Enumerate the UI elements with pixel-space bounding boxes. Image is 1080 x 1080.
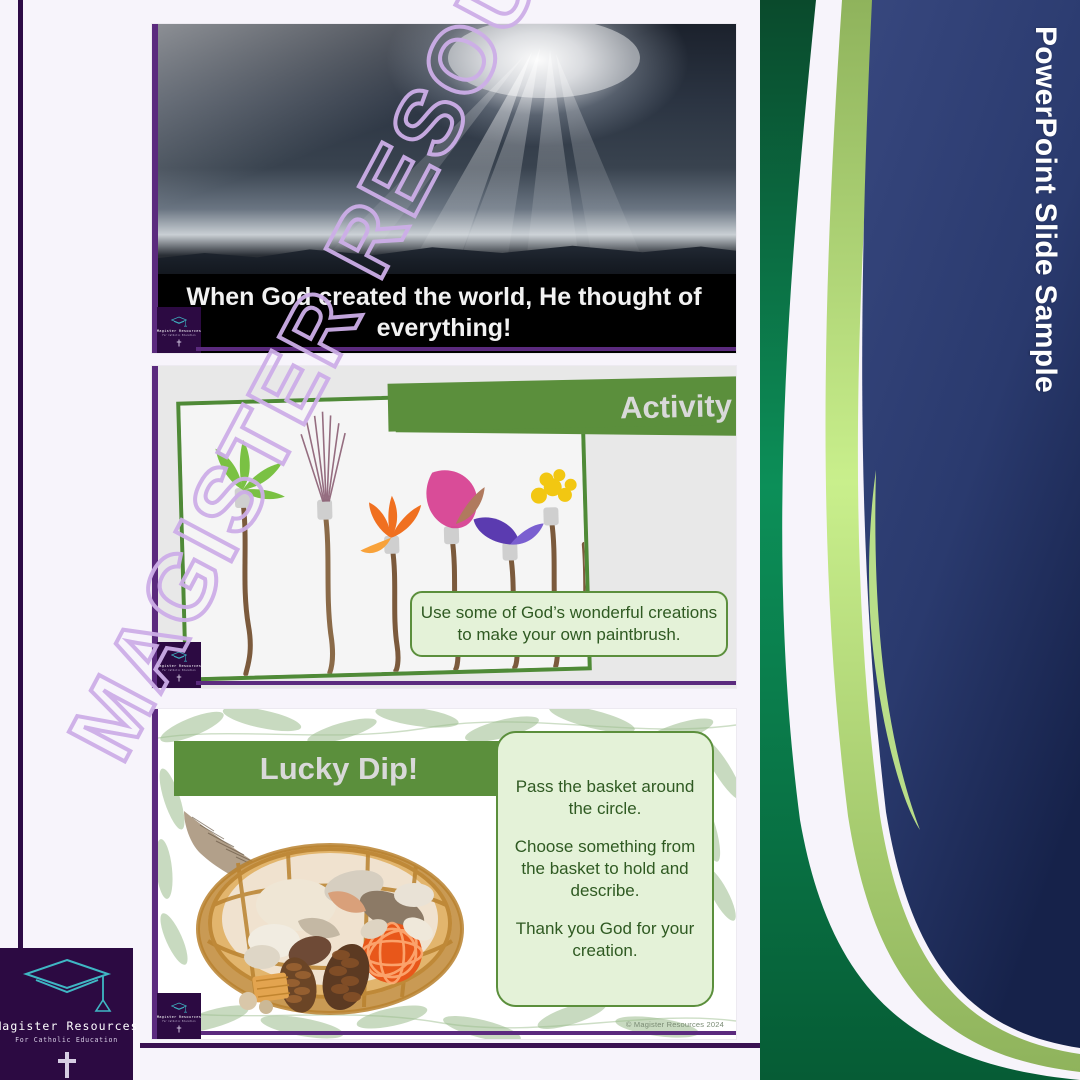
slide-thumbnail-1[interactable]: When God created the world, He thought o… [152, 24, 736, 353]
graduation-cap-icon [171, 316, 187, 327]
slide-left-edge [152, 709, 158, 1039]
slide-left-edge [152, 366, 158, 688]
badge-brand-tagline: For Catholic Education [162, 669, 195, 672]
slide-1-bottom-rule [196, 347, 736, 351]
copyright-notice: © Magister Resources 2024 [626, 1020, 724, 1029]
slide-1-caption: When God created the world, He thought o… [152, 282, 736, 343]
graduation-cap-icon [171, 1002, 187, 1013]
slide-3-title: Lucky Dip! [174, 741, 504, 796]
slide-3-bottom-rule [196, 1031, 736, 1035]
badge-brand-name: Magister Resources [157, 1015, 201, 1019]
basket-photo [178, 801, 478, 1019]
callout-paragraph-1: Pass the basket around the circle. [504, 776, 706, 820]
badge-brand-name: Magister Resources [157, 329, 201, 333]
sun-rays [152, 24, 736, 281]
rays-svg [152, 24, 736, 281]
brand-name: Magister Resources [0, 1019, 139, 1033]
badge-brand-tagline: For Catholic Education [162, 334, 195, 337]
slide-1-logo-badge: Magister Resources For Catholic Educatio… [157, 307, 201, 353]
bottom-accent-rule [140, 1043, 800, 1048]
slide-3-logo-badge: Magister Resources For Catholic Educatio… [157, 993, 201, 1039]
slide-2-bottom-rule [196, 681, 736, 685]
basket-of-natural-objects-svg [178, 801, 478, 1019]
badge-brand-tagline: For Catholic Education [162, 1020, 195, 1023]
slide-left-edge [152, 24, 158, 353]
slide-2-title: Activity [452, 385, 733, 433]
right-decorative-panel: PowerPoint Slide Sample [760, 0, 1080, 1080]
callout-paragraph-3: Thank you God for your creation. [504, 918, 706, 962]
left-accent-rule [18, 0, 23, 952]
cross-icon [176, 339, 182, 347]
graduation-cap-icon [171, 651, 187, 662]
brand-logo-card: Magister Resources For Catholic Educatio… [0, 948, 133, 1080]
slide-3-callout: Pass the basket around the circle. Choos… [496, 731, 714, 1007]
cross-icon [176, 1025, 182, 1033]
badge-brand-name: Magister Resources [157, 664, 201, 668]
slide-2-callout: Use some of God’s wonderful creations to… [410, 591, 728, 657]
callout-paragraph-2: Choose something from the basket to hold… [504, 836, 706, 902]
slide-thumbnail-2[interactable]: Activity Use some of God’s wonderful cre… [152, 366, 736, 688]
graduation-cap-icon [22, 955, 112, 1013]
side-panel-title: PowerPoint Slide Sample [1028, 26, 1062, 393]
brand-tagline: For Catholic Education [15, 1036, 118, 1044]
cross-icon [56, 1051, 78, 1079]
slide-2-logo-badge: Magister Resources For Catholic Educatio… [157, 642, 201, 688]
slide-thumbnail-3[interactable]: Lucky Dip! [152, 709, 736, 1039]
cross-icon [176, 674, 182, 682]
